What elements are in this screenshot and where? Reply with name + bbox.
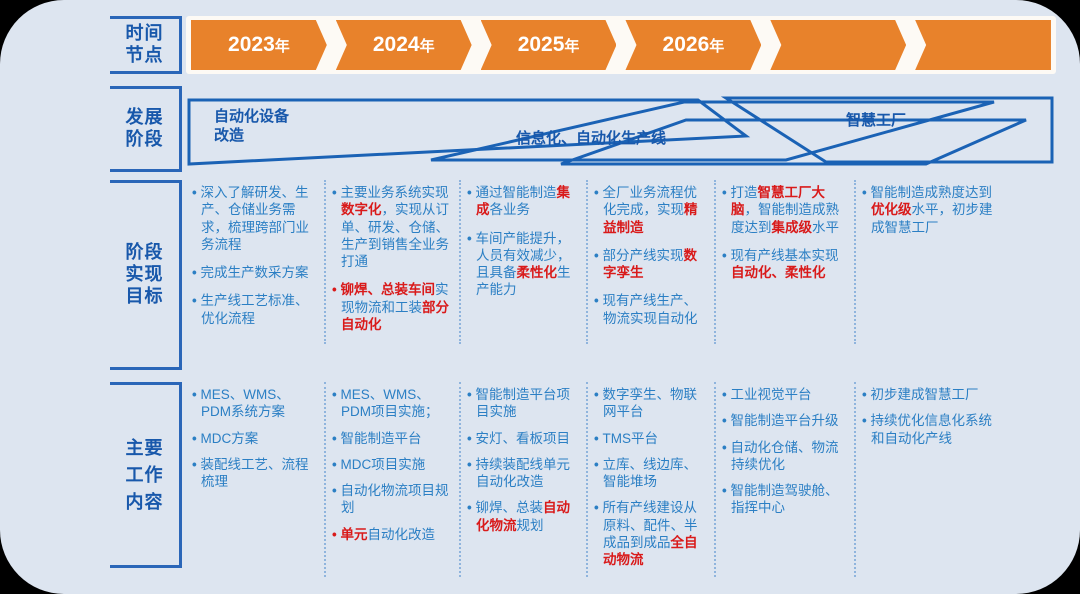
row-label-stage-line2: 阶段 — [126, 129, 164, 151]
list-item: 全厂业务流程优化完成，实现精益制造 — [594, 184, 706, 236]
tasks-list-3: 智能制造平台项目实施安灯、看板项目持续装配线单元自动化改造铆焊、总装自动化物流规… — [467, 386, 578, 534]
body-text: 智能制造成熟度达到 — [870, 185, 992, 200]
list-item: 工业视觉平台 — [722, 386, 846, 403]
tasks-column-3: 智能制造平台项目实施安灯、看板项目持续装配线单元自动化改造铆焊、总装自动化物流规… — [461, 382, 588, 577]
body-text: 安灯、看板项目 — [475, 431, 570, 446]
body-text: 水平 — [812, 220, 839, 235]
stage-label-3-line1: 智慧工厂 — [846, 112, 906, 131]
list-item: 单元自动化改造 — [332, 526, 451, 543]
body-text: 初步建成智慧工厂 — [870, 387, 978, 402]
list-item: 智能制造平台 — [332, 430, 451, 447]
body-text: 现有产线基本实现 — [730, 248, 838, 263]
row-label-tasks-line1: 主要 — [126, 435, 164, 462]
body-text: 工业视觉平台 — [730, 387, 811, 402]
timeline-segment-unit: 年 — [420, 35, 435, 56]
tasks-list-4: 数字孪生、物联网平台TMS平台立库、线边库、智能堆场所有产线建设从原料、配件、半… — [594, 386, 706, 568]
body-text: 持续优化信息化系统和自动化产线 — [870, 413, 992, 445]
tasks-list-2: MES、WMS、PDM项目实施；智能制造平台MDC项目实施自动化物流项目规划单元… — [332, 386, 451, 543]
list-item: 车间产能提升，人员有效减少，且具备柔性化生产能力 — [467, 230, 578, 299]
list-item: 主要业务系统实现数字化，实现从订单、研发、仓储、生产到销售全业务打通 — [332, 184, 451, 270]
timeline-segment-5[interactable] — [770, 20, 906, 70]
goals-list-1: 深入了解研发、生产、仓储业务需求，梳理跨部门业务流程完成生产数采方案生产线工艺标… — [192, 184, 316, 327]
list-item: 自动化物流项目规划 — [332, 482, 451, 517]
stage-goals-grid: 深入了解研发、生产、仓储业务需求，梳理跨部门业务流程完成生产数采方案生产线工艺标… — [186, 180, 1062, 344]
body-text: 完成生产数采方案 — [200, 265, 308, 280]
list-item: 现有产线基本实现自动化、柔性化 — [722, 247, 846, 282]
development-stage-area: 自动化设备 改造 信息化、自动化生产线 智慧工厂 — [186, 92, 1056, 172]
goals-column-5: 打造智慧工厂大脑，智能制造成熟度达到集成级水平现有产线基本实现自动化、柔性化 — [716, 180, 856, 344]
list-item: 通过智能制造集成各业务 — [467, 184, 578, 219]
body-text: MDC方案 — [200, 431, 258, 446]
timeline-segment-2[interactable]: 2024年 — [336, 20, 472, 70]
goals-column-1: 深入了解研发、生产、仓储业务需求，梳理跨部门业务流程完成生产数采方案生产线工艺标… — [186, 180, 326, 344]
list-item: MDC方案 — [192, 430, 316, 447]
timeline-segment-4[interactable]: 2026年 — [625, 20, 761, 70]
stage-label-3: 智慧工厂 — [846, 112, 906, 131]
goals-list-4: 全厂业务流程优化完成，实现精益制造部分产线实现数字孪生现有产线生产、物流实现自动… — [594, 184, 706, 327]
list-item: 铆焊、总装自动化物流规划 — [467, 499, 578, 534]
timeline-segment-6[interactable] — [915, 20, 1051, 70]
body-text: 智能制造平台项目实施 — [475, 387, 570, 419]
list-item: 铆焊、总装车间实现物流和工装部分自动化 — [332, 281, 451, 333]
body-text: 现有产线生产、物流实现自动化 — [602, 293, 697, 325]
list-item: MES、WMS、PDM系统方案 — [192, 386, 316, 421]
roadmap-card: 时间 节点 发展 阶段 阶段 实现 目标 主要 工作 内容 2023年2024年… — [0, 0, 1080, 594]
body-text: 自动化仓储、物流持续优化 — [730, 440, 838, 472]
body-text: 铆焊、总装 — [475, 500, 543, 515]
row-label-tasks: 主要 工作 内容 — [110, 382, 182, 568]
body-text: 自动化改造 — [367, 527, 435, 542]
row-label-goals-line2: 实现 — [126, 264, 164, 286]
body-text: MES、WMS、PDM项目实施； — [340, 387, 438, 419]
goals-list-6: 智能制造成熟度达到优化级水平，初步建成智慧工厂 — [862, 184, 998, 236]
row-label-stage-line1: 发展 — [126, 107, 164, 129]
stage-label-1-line1: 自动化设备 — [214, 108, 289, 127]
stage-label-2-line1: 信息化、自动化生产线 — [516, 130, 666, 149]
list-item: 智能制造成熟度达到优化级水平，初步建成智慧工厂 — [862, 184, 998, 236]
body-text: 装配线工艺、流程梳理 — [200, 457, 308, 489]
list-item: 持续优化信息化系统和自动化产线 — [862, 412, 998, 447]
list-item: 数字孪生、物联网平台 — [594, 386, 706, 421]
body-text: MDC项目实施 — [340, 457, 425, 472]
highlighted-text: 集成级 — [772, 220, 813, 235]
list-item: 智能制造平台升级 — [722, 412, 846, 429]
timeline-bar: 2023年2024年2025年2026年 — [186, 16, 1056, 74]
tasks-list-5: 工业视觉平台智能制造平台升级自动化仓储、物流持续优化智能制造驾驶舱、指挥中心 — [722, 386, 846, 517]
list-item: 现有产线生产、物流实现自动化 — [594, 292, 706, 327]
list-item: MES、WMS、PDM项目实施； — [332, 386, 451, 421]
goals-column-2: 主要业务系统实现数字化，实现从订单、研发、仓储、生产到销售全业务打通铆焊、总装车… — [326, 180, 461, 344]
highlighted-text: 铆焊、总装车间 — [340, 282, 435, 297]
tasks-column-1: MES、WMS、PDM系统方案MDC方案装配线工艺、流程梳理 — [186, 382, 326, 577]
timeline-segment-1[interactable]: 2023年 — [191, 20, 327, 70]
list-item: TMS平台 — [594, 430, 706, 447]
body-text: 规划 — [517, 518, 544, 533]
body-text: 数字孪生、物联网平台 — [602, 387, 697, 419]
stage-label-1-line2: 改造 — [214, 127, 289, 146]
body-text: 通过智能制造 — [475, 185, 556, 200]
stage-label-1: 自动化设备 改造 — [214, 108, 289, 146]
body-text: 深入了解研发、生产、仓储业务需求，梳理跨部门业务流程 — [200, 185, 309, 252]
body-text: 部分产线实现 — [602, 248, 683, 263]
list-item: 立库、线边库、智能堆场 — [594, 456, 706, 491]
list-item: 完成生产数采方案 — [192, 264, 316, 281]
stage-label-2: 信息化、自动化生产线 — [516, 130, 666, 149]
timeline-segment-3[interactable]: 2025年 — [481, 20, 617, 70]
highlighted-text: 数字化 — [341, 202, 382, 217]
row-label-tasks-line2: 工作 — [126, 462, 164, 489]
row-label-timeline-line2: 节点 — [126, 45, 164, 67]
body-text: 智能制造平台 — [340, 431, 421, 446]
body-text: 持续装配线单元自动化改造 — [475, 457, 570, 489]
highlighted-text: 柔性化 — [517, 265, 558, 280]
row-label-stage: 发展 阶段 — [110, 86, 182, 172]
tasks-column-6: 初步建成智慧工厂持续优化信息化系统和自动化产线 — [856, 382, 1006, 577]
timeline-segment-year: 2025 — [518, 33, 565, 57]
timeline-segment-unit: 年 — [275, 35, 290, 56]
highlighted-text: 优化级 — [871, 202, 912, 217]
body-text: 自动化物流项目规划 — [340, 483, 448, 515]
row-label-goals: 阶段 实现 目标 — [110, 180, 182, 370]
main-tasks-grid: MES、WMS、PDM系统方案MDC方案装配线工艺、流程梳理 MES、WMS、P… — [186, 382, 1062, 577]
timeline-segment-unit: 年 — [564, 35, 579, 56]
body-text: MES、WMS、PDM系统方案 — [200, 387, 289, 419]
list-item: 持续装配线单元自动化改造 — [467, 456, 578, 491]
row-label-goals-line1: 阶段 — [126, 242, 164, 264]
goals-list-3: 通过智能制造集成各业务车间产能提升，人员有效减少，且具备柔性化生产能力 — [467, 184, 578, 299]
list-item: 所有产线建设从原料、配件、半成品到成品全自动物流 — [594, 499, 706, 568]
goals-column-4: 全厂业务流程优化完成，实现精益制造部分产线实现数字孪生现有产线生产、物流实现自动… — [588, 180, 716, 344]
tasks-column-5: 工业视觉平台智能制造平台升级自动化仓储、物流持续优化智能制造驾驶舱、指挥中心 — [716, 382, 856, 577]
body-text: 生产线工艺标准、优化流程 — [200, 293, 308, 325]
body-text: 各业务 — [490, 202, 531, 217]
body-text: 智能制造平台升级 — [730, 413, 838, 428]
body-text: 全厂业务流程优化完成，实现 — [602, 185, 697, 217]
timeline-segment-year: 2024 — [373, 33, 420, 57]
list-item: 装配线工艺、流程梳理 — [192, 456, 316, 491]
highlighted-text: 单元 — [340, 527, 367, 542]
goals-list-2: 主要业务系统实现数字化，实现从订单、研发、仓储、生产到销售全业务打通铆焊、总装车… — [332, 184, 451, 333]
list-item: 打造智慧工厂大脑，智能制造成熟度达到集成级水平 — [722, 184, 846, 236]
body-text: TMS平台 — [602, 431, 658, 446]
highlighted-text: 自动化、柔性化 — [731, 265, 826, 280]
list-item: 安灯、看板项目 — [467, 430, 578, 447]
timeline-segment-year: 2023 — [228, 33, 275, 57]
goals-column-6: 智能制造成熟度达到优化级水平，初步建成智慧工厂 — [856, 180, 1006, 344]
goals-column-3: 通过智能制造集成各业务车间产能提升，人员有效减少，且具备柔性化生产能力 — [461, 180, 588, 344]
row-label-timeline: 时间 节点 — [110, 16, 182, 74]
list-item: 初步建成智慧工厂 — [862, 386, 998, 403]
list-item: 深入了解研发、生产、仓储业务需求，梳理跨部门业务流程 — [192, 184, 316, 253]
row-label-tasks-line3: 内容 — [126, 489, 164, 516]
list-item: 智能制造平台项目实施 — [467, 386, 578, 421]
body-text: 主要业务系统实现 — [340, 185, 448, 200]
body-text: 打造 — [730, 185, 757, 200]
row-label-timeline-line1: 时间 — [126, 23, 164, 45]
tasks-list-6: 初步建成智慧工厂持续优化信息化系统和自动化产线 — [862, 386, 998, 447]
list-item: 生产线工艺标准、优化流程 — [192, 292, 316, 327]
list-item: MDC项目实施 — [332, 456, 451, 473]
goals-list-5: 打造智慧工厂大脑，智能制造成熟度达到集成级水平现有产线基本实现自动化、柔性化 — [722, 184, 846, 281]
tasks-column-2: MES、WMS、PDM项目实施；智能制造平台MDC项目实施自动化物流项目规划单元… — [326, 382, 461, 577]
timeline-segment-unit: 年 — [709, 35, 724, 56]
list-item: 部分产线实现数字孪生 — [594, 247, 706, 282]
list-item: 智能制造驾驶舱、指挥中心 — [722, 482, 846, 517]
body-text: 立库、线边库、智能堆场 — [602, 457, 697, 489]
tasks-list-1: MES、WMS、PDM系统方案MDC方案装配线工艺、流程梳理 — [192, 386, 316, 490]
row-label-goals-line3: 目标 — [126, 286, 164, 308]
timeline-segment-year: 2026 — [663, 33, 710, 57]
list-item: 自动化仓储、物流持续优化 — [722, 439, 846, 474]
body-text: 智能制造驾驶舱、指挥中心 — [730, 483, 838, 515]
tasks-column-4: 数字孪生、物联网平台TMS平台立库、线边库、智能堆场所有产线建设从原料、配件、半… — [588, 382, 716, 577]
